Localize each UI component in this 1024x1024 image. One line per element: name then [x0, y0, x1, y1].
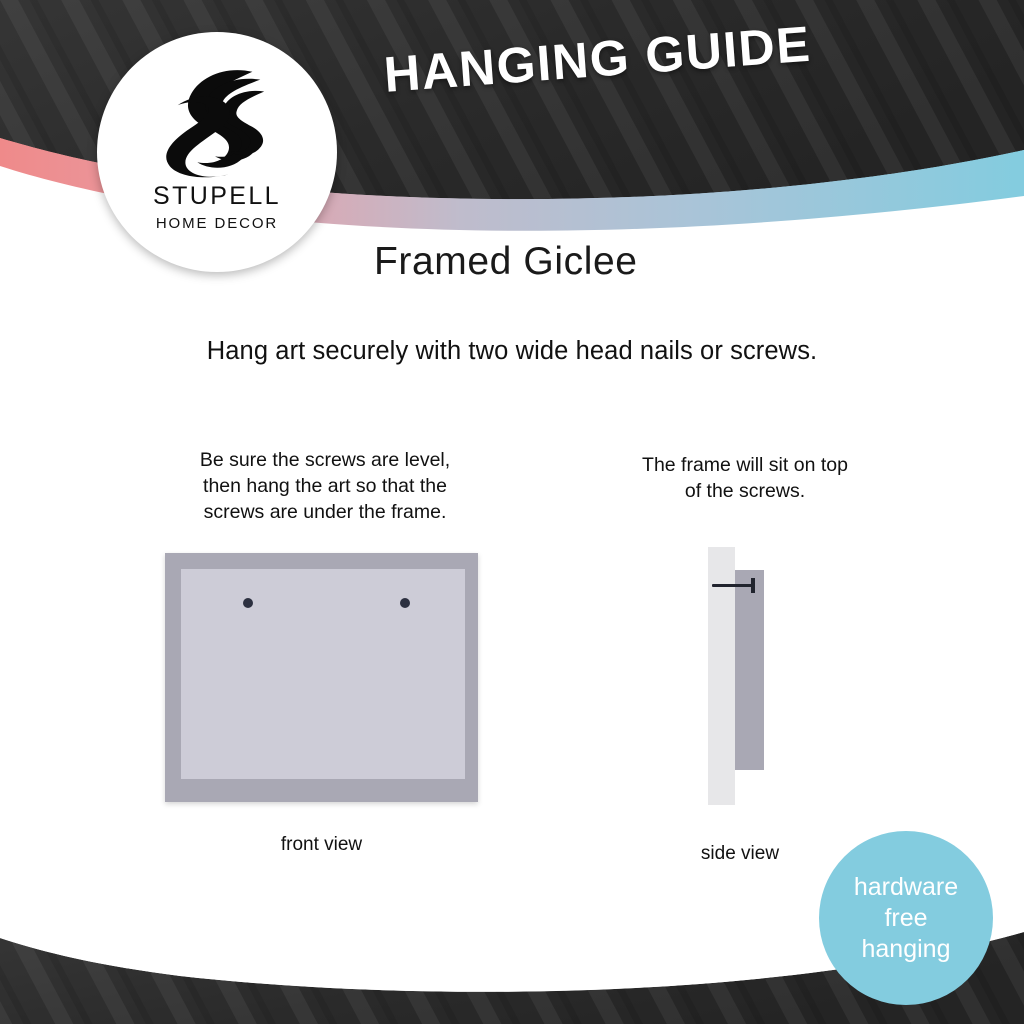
badge-line: hardware — [854, 872, 958, 903]
page-title: HANGING GUIDE — [382, 9, 885, 103]
caption-line: of the screws. — [598, 478, 892, 504]
screw-dot-right-icon — [400, 598, 410, 608]
stupell-logo-badge: STUPELL HOME DECOR — [97, 32, 337, 272]
frame-profile-bar — [735, 570, 764, 770]
caption-line: Be sure the screws are level, — [170, 447, 480, 473]
caption-line: screws are under the frame. — [170, 499, 480, 525]
stupell-swoosh-icon — [158, 58, 276, 180]
side-view-label: side view — [655, 843, 825, 865]
main-instruction-text: Hang art securely with two wide head nai… — [0, 337, 1024, 366]
frame-mat-area — [181, 569, 465, 779]
front-view-frame-diagram — [165, 553, 478, 802]
nail-head-icon — [751, 578, 755, 593]
logo-name: STUPELL — [153, 184, 281, 209]
caption-line: The frame will sit on top — [598, 452, 892, 478]
side-view-caption: The frame will sit on top of the screws. — [598, 452, 892, 504]
product-type-heading: Framed Giclee — [374, 240, 638, 284]
front-view-caption: Be sure the screws are level, then hang … — [170, 447, 480, 525]
hardware-free-hanging-badge: hardware free hanging — [819, 831, 993, 1005]
screw-dot-left-icon — [243, 598, 253, 608]
front-view-label: front view — [170, 834, 473, 856]
badge-line: hanging — [862, 934, 951, 965]
side-view-frame-diagram — [708, 547, 772, 807]
nail-shaft-icon — [712, 584, 754, 587]
badge-line: free — [884, 903, 927, 934]
caption-line: then hang the art so that the — [170, 473, 480, 499]
hanging-guide-page: STUPELL HOME DECOR HANGING GUIDE Framed … — [0, 0, 1024, 1024]
logo-subtitle: HOME DECOR — [156, 216, 278, 231]
